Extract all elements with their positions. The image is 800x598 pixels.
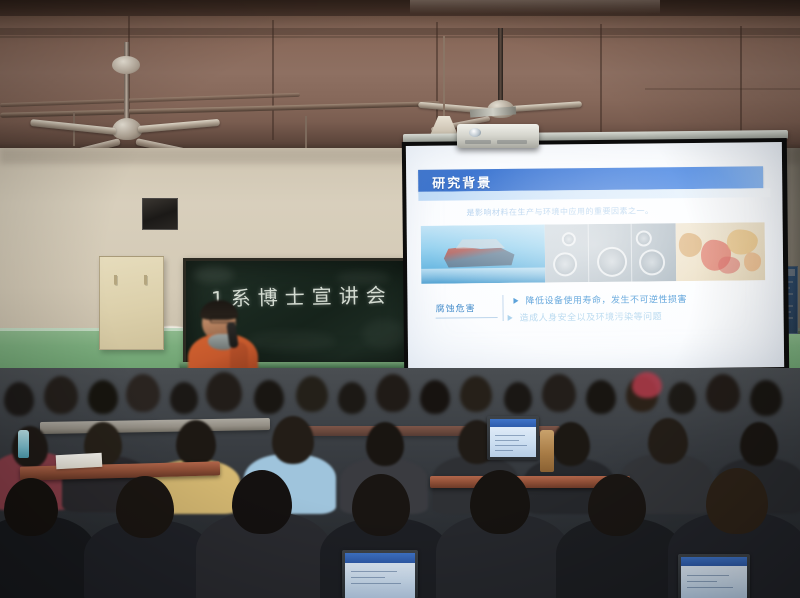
world-corrosion-map <box>675 222 765 281</box>
lecture-hall-photo: 1系博士宣讲会 研究背景 是影响材料在生产与环境中应用的重要因素之一。 <box>0 0 800 598</box>
laptop-title-bar <box>345 553 415 563</box>
pendant-lamp-wire <box>443 36 445 120</box>
notebook-paper <box>56 453 103 469</box>
thermos-bottle <box>540 430 554 472</box>
ceiling-projector <box>457 124 539 148</box>
microscopy-grid-photo <box>544 223 675 282</box>
bullet-underline <box>436 317 498 319</box>
board-hook <box>144 275 147 285</box>
projection-screen: 研究背景 是影响材料在生产与环境中应用的重要因素之一。 <box>406 142 784 371</box>
laptop-title-bar <box>490 419 536 427</box>
slide-subtitle: 是影响材料在生产与环境中应用的重要因素之一。 <box>466 205 653 218</box>
laptop-bottom-left <box>342 550 418 598</box>
notice-board <box>99 256 164 350</box>
bullet-divider <box>502 295 503 321</box>
slide-bullet-2: 造成人身安全以及环境污染等问题 <box>520 309 663 323</box>
laptop-title-bar <box>681 557 747 566</box>
ceiling-fan-2-rod <box>498 28 503 106</box>
bullet-marker-2 <box>508 315 513 321</box>
laptop <box>487 416 539 460</box>
projector-lens <box>469 128 481 137</box>
slide-bullet-1: 降低设备使用寿命，发生不可逆性损害 <box>525 292 687 307</box>
water-bottle <box>18 430 29 458</box>
laptop-bottom-right <box>678 554 750 598</box>
audience <box>0 368 800 598</box>
slide-image-strip <box>421 222 766 284</box>
bullet-marker-1 <box>513 298 518 304</box>
offshore-platform-photo <box>421 225 545 284</box>
slide-title: 研究背景 <box>432 172 492 192</box>
ceiling-fan-canopy <box>112 56 140 74</box>
ceiling-fan-rod <box>124 42 129 124</box>
board-hook <box>114 275 117 285</box>
slide-left-label: 腐蚀危害 <box>435 301 475 314</box>
light-hanger-2 <box>305 116 307 148</box>
wall-speaker-box <box>142 198 178 230</box>
